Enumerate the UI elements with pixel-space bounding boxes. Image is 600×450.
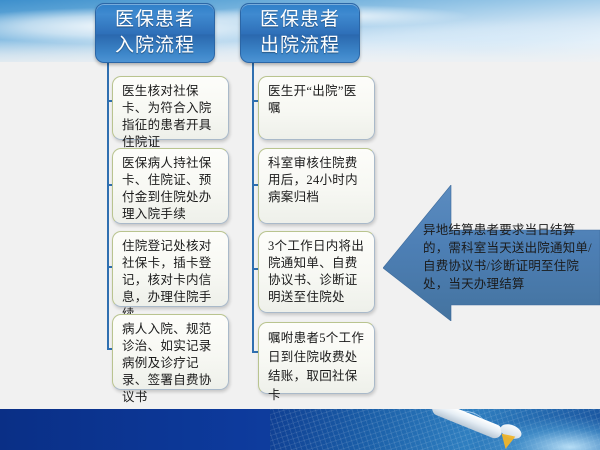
step-box-admission-3[interactable]: 住院登记处核对社保卡，插卡登记，核对卡内信息，办理住院手续	[112, 231, 229, 307]
step-box-admission-4[interactable]: 病人入院、规范诊治、如实记录病例及诊疗记录、签署自费协议书	[112, 314, 229, 390]
header-chip-admission-line1: 医保患者	[115, 7, 195, 33]
step-box-admission-1[interactable]: 医生核对社保卡、为符合入院指征的患者开具住院证	[112, 76, 229, 140]
bottom-banner	[0, 409, 600, 450]
header-chip-admission[interactable]: 医保患者 入院流程	[95, 3, 215, 63]
satellite-image	[270, 409, 600, 450]
header-chip-discharge[interactable]: 医保患者 出院流程	[240, 3, 360, 63]
connector-trunk-column-2	[252, 61, 254, 352]
satellite-body-icon	[430, 409, 504, 440]
step-box-admission-2[interactable]: 医保病人持社保卡、住院证、预付金到住院处办理入院手续	[112, 148, 229, 224]
step-box-discharge-2[interactable]: 科室审核住院费用后，24小时内病案归档	[258, 148, 375, 224]
step-box-discharge-4[interactable]: 嘱咐患者5个工作日到住院收费处结账，取回社保卡	[258, 322, 375, 394]
header-chip-discharge-line1: 医保患者	[260, 7, 340, 33]
satellite-flame-icon	[499, 434, 516, 450]
connector-trunk-column-1	[107, 61, 109, 349]
slide-canvas: 医保患者 入院流程 医保患者 出院流程 医生核对社保卡、为符合入院指征的患者开具…	[0, 0, 600, 450]
header-chip-discharge-line2: 出院流程	[260, 33, 340, 59]
callout-text: 异地结算患者要求当日结算的，需科室当天送出院通知单/自费协议书/诊断证明至住院处…	[423, 221, 595, 293]
step-box-discharge-3[interactable]: 3个工作日内将出院通知单、自费协议书、诊断证明送至住院处	[258, 231, 375, 313]
header-chip-admission-line2: 入院流程	[115, 33, 195, 59]
callout-arrow-same-day-settlement[interactable]: 异地结算患者要求当日结算的，需科室当天送出院通知单/自费协议书/诊断证明至住院处…	[383, 185, 600, 321]
step-box-discharge-1[interactable]: 医生开“出院”医嘱	[258, 76, 375, 140]
